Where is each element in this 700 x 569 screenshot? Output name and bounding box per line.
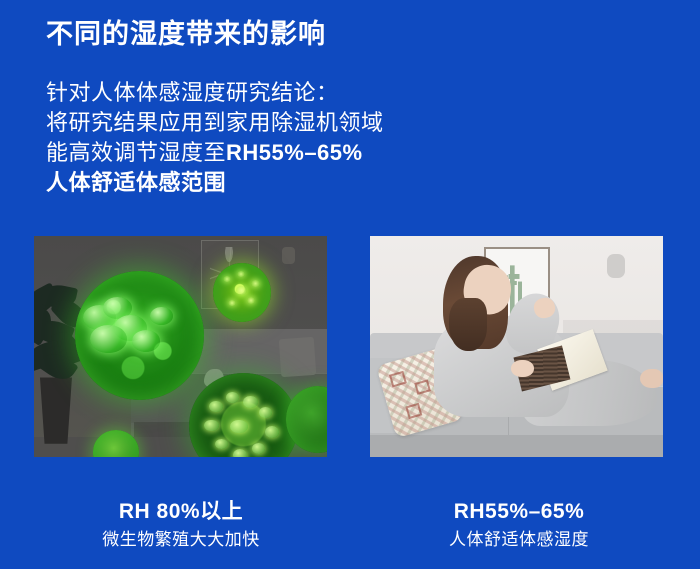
intro-paragraph: 针对人体体感湿度研究结论： 将研究结果应用到家用除湿机领域 能高效调节湿度至RH… <box>46 78 384 198</box>
page-title: 不同的湿度带来的影响 <box>46 16 326 52</box>
woman-foot <box>640 369 663 389</box>
caption-title: RH55%–65% <box>369 498 669 526</box>
germ-sphere-icon <box>75 271 204 399</box>
caption-title: RH 80%以上 <box>31 498 331 526</box>
wall-thermostat-icon <box>607 254 625 278</box>
wall-thermostat-icon <box>282 247 295 264</box>
sofa-base <box>370 435 663 457</box>
promo-page: 不同的湿度带来的影响 针对人体体感湿度研究结论： 将研究结果应用到家用除湿机领域… <box>0 0 700 569</box>
woman-hand-holding-book <box>511 360 534 378</box>
comparison-images <box>0 236 700 458</box>
intro-line-1: 针对人体体感湿度研究结论： <box>46 78 384 108</box>
intro-line-3: 能高效调节湿度至RH55%–65% <box>46 138 384 168</box>
dark-living-room-scene <box>34 236 327 457</box>
caption-high-humidity: RH 80%以上 微生物繁殖大大加快 <box>31 498 331 553</box>
humidity-range-highlight: RH55%–65% <box>226 140 363 165</box>
intro-line-3-prefix: 能高效调节湿度至 <box>46 140 226 165</box>
image-comfort-humidity <box>370 236 663 457</box>
intro-line-2: 将研究结果应用到家用除湿机领域 <box>46 108 384 138</box>
caption-comfort-humidity: RH55%–65% 人体舒适体感湿度 <box>369 498 669 553</box>
sofa-cushion <box>279 336 317 376</box>
caption-subtitle: 微生物繁殖大大加快 <box>31 527 331 553</box>
image-high-humidity <box>34 236 327 457</box>
intro-line-4: 人体舒适体感范围 <box>46 168 384 198</box>
caption-subtitle: 人体舒适体感湿度 <box>369 527 669 553</box>
germ-sphere-icon <box>213 263 272 323</box>
woman-hair-front <box>449 298 487 351</box>
bright-living-room-scene <box>370 236 663 457</box>
captions: RH 80%以上 微生物繁殖大大加快 RH55%–65% 人体舒适体感湿度 <box>0 498 700 569</box>
